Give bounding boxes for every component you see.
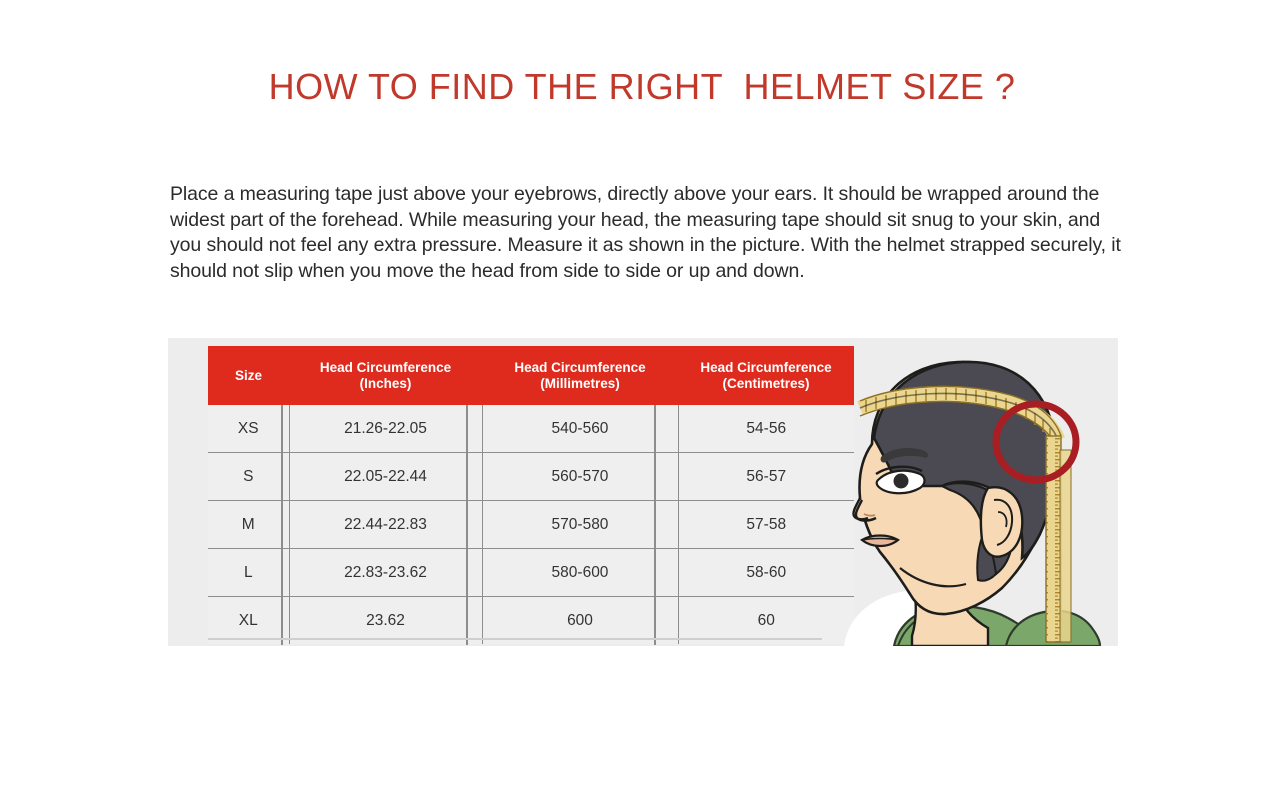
table-row: XS 21.26-22.05 540-560 54-56	[208, 405, 854, 453]
cell-size: L	[208, 549, 289, 597]
cell-centimetres: 57-58	[678, 501, 854, 549]
column-header-millimetres-line2: (Millimetres)	[540, 376, 620, 391]
cell-size: XL	[208, 597, 289, 645]
table-row: XL 23.62 600 60	[208, 597, 854, 645]
column-header-centimetres-line1: Head Circumference	[700, 360, 831, 375]
table-column-rule	[281, 405, 283, 645]
table-header-row: Size Head Circumference (Inches) Head Ci…	[208, 346, 854, 405]
column-header-size: Size	[208, 346, 289, 405]
head-measurement-illustration	[838, 340, 1110, 646]
cell-centimetres: 60	[678, 597, 854, 645]
ear-shape	[981, 487, 1022, 556]
column-header-centimetres: Head Circumference (Centimetres)	[678, 346, 854, 405]
cell-inches: 21.26-22.05	[289, 405, 482, 453]
cell-millimetres: 580-600	[482, 549, 678, 597]
column-header-size-line1: Size	[235, 368, 262, 383]
cell-inches: 22.05-22.44	[289, 453, 482, 501]
helmet-size-table: Size Head Circumference (Inches) Head Ci…	[208, 346, 854, 644]
table-row: M 22.44-22.83 570-580 57-58	[208, 501, 854, 549]
page-title: HOW TO FIND THE RIGHT HELMET SIZE ?	[0, 66, 1284, 108]
cell-millimetres: 570-580	[482, 501, 678, 549]
cell-centimetres: 56-57	[678, 453, 854, 501]
table-row: L 22.83-23.62 580-600 58-60	[208, 549, 854, 597]
cell-size: S	[208, 453, 289, 501]
table-body: XS 21.26-22.05 540-560 54-56 S 22.05-22.…	[208, 405, 854, 644]
column-header-millimetres-line1: Head Circumference	[514, 360, 645, 375]
cell-millimetres: 600	[482, 597, 678, 645]
cell-centimetres: 58-60	[678, 549, 854, 597]
cell-centimetres: 54-56	[678, 405, 854, 453]
table-header: Size Head Circumference (Inches) Head Ci…	[208, 346, 854, 405]
cell-millimetres: 540-560	[482, 405, 678, 453]
column-header-inches: Head Circumference (Inches)	[289, 346, 482, 405]
cell-millimetres: 560-570	[482, 453, 678, 501]
table-bottom-rule	[208, 638, 822, 640]
table-row: S 22.05-22.44 560-570 56-57	[208, 453, 854, 501]
cell-inches: 22.83-23.62	[289, 549, 482, 597]
cell-size: XS	[208, 405, 289, 453]
cell-size: M	[208, 501, 289, 549]
column-header-inches-line2: (Inches)	[360, 376, 412, 391]
intro-paragraph: Place a measuring tape just above your e…	[170, 182, 1122, 284]
cell-inches: 23.62	[289, 597, 482, 645]
column-header-centimetres-line2: (Centimetres)	[722, 376, 809, 391]
table-column-rule	[466, 405, 468, 645]
mouth-shape	[862, 536, 898, 547]
column-header-millimetres: Head Circumference (Millimetres)	[482, 346, 678, 405]
cell-inches: 22.44-22.83	[289, 501, 482, 549]
column-header-inches-line1: Head Circumference	[320, 360, 451, 375]
table-column-rule	[654, 405, 656, 645]
